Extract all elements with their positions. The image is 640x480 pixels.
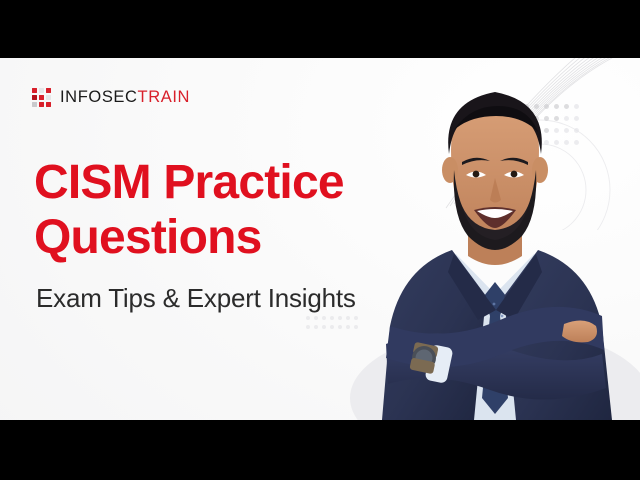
letterbox-bar-bottom (0, 420, 640, 480)
presenter-photo (350, 58, 640, 420)
brand-logo[interactable]: INFOSECTRAIN (32, 88, 190, 107)
video-thumbnail: INFOSECTRAIN CISM Practice Questions Exa… (0, 0, 640, 480)
brand-wordmark-train: TRAIN (138, 88, 191, 106)
page-subtitle: Exam Tips & Expert Insights (36, 283, 356, 314)
infosectrain-grid-logo-icon (32, 88, 51, 107)
brand-wordmark-infosec: INFOSEC (60, 88, 138, 106)
slide-stage: INFOSECTRAIN CISM Practice Questions Exa… (0, 58, 640, 420)
letterbox-bar-top (0, 0, 640, 58)
brand-wordmark: INFOSECTRAIN (60, 89, 190, 106)
